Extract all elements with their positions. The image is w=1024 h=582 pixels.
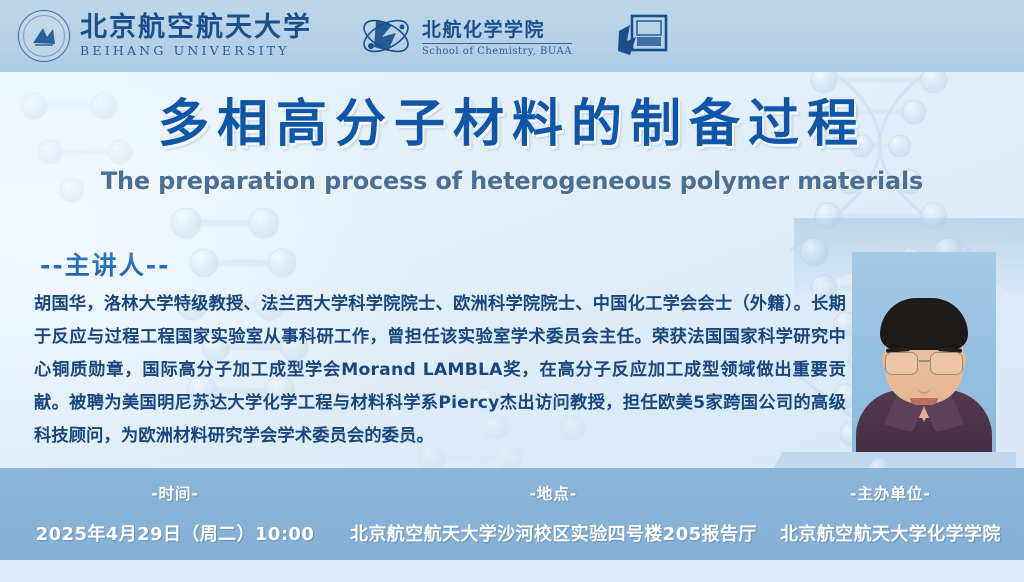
portrait-hair bbox=[880, 298, 968, 350]
footer-place-column: -地点- 北京航空航天大学沙河校区实验四号楼205报告厅 bbox=[350, 468, 757, 560]
footer-host-label: -主办单位- bbox=[850, 482, 931, 504]
logo-group: 北京航空航天大学 BEIHANG UNIVERSITY 北航化学学院 Schoo… bbox=[18, 10, 668, 62]
chemistry-name-en: School of Chemistry, BUAA bbox=[422, 46, 572, 57]
seminar-poster: 北京航空航天大学 BEIHANG UNIVERSITY 北航化学学院 Schoo… bbox=[0, 0, 1024, 582]
buaa-logo: 北京航空航天大学 BEIHANG UNIVERSITY bbox=[18, 10, 312, 62]
footer-host-column: -主办单位- 北京航空航天大学化学学院 bbox=[757, 468, 1024, 560]
square-seal-icon bbox=[616, 11, 668, 61]
chemistry-atom-icon bbox=[358, 11, 414, 61]
speaker-bio: 胡国华，洛林大学特级教授、法兰西大学科学院院士、欧洲科学院院士、中国化工学会会士… bbox=[34, 288, 846, 453]
poster-header: 北京航空航天大学 BEIHANG UNIVERSITY 北航化学学院 Schoo… bbox=[0, 0, 1024, 72]
buaa-name-cn: 北京航空航天大学 bbox=[80, 14, 312, 42]
speaker-portrait bbox=[852, 252, 996, 452]
footer-time-value: 2025年4月29日（周二）10:00 bbox=[36, 520, 315, 546]
footer-bottom-strip bbox=[0, 560, 1024, 582]
poster-footer: -时间- 2025年4月29日（周二）10:00 -地点- 北京航空航天大学沙河… bbox=[0, 468, 1024, 560]
portrait-mouth bbox=[910, 398, 938, 405]
buaa-seal-icon bbox=[18, 10, 70, 62]
chemistry-name-cn: 北航化学学院 bbox=[422, 15, 572, 44]
chemistry-school-logo: 北航化学学院 School of Chemistry, BUAA bbox=[358, 11, 572, 61]
portrait-nose bbox=[917, 376, 931, 394]
portrait-glasses-icon bbox=[881, 352, 967, 374]
xuekeqianyan-seal-logo bbox=[616, 11, 668, 61]
footer-time-column: -时间- 2025年4月29日（周二）10:00 bbox=[0, 468, 350, 560]
speaker-section-label: --主讲人-- bbox=[40, 246, 171, 282]
footer-place-value: 北京航空航天大学沙河校区实验四号楼205报告厅 bbox=[350, 520, 757, 546]
page-title: 多相高分子材料的制备过程 bbox=[0, 96, 1024, 153]
footer-time-label: -时间- bbox=[151, 482, 199, 504]
footer-host-value: 北京航空航天大学化学学院 bbox=[780, 520, 1001, 546]
title-zone: 多相高分子材料的制备过程 The preparation process of … bbox=[0, 96, 1024, 195]
page-subtitle: The preparation process of heterogeneous… bbox=[0, 167, 1024, 195]
footer-place-label: -地点- bbox=[529, 482, 577, 504]
buaa-name-en: BEIHANG UNIVERSITY bbox=[80, 43, 312, 58]
